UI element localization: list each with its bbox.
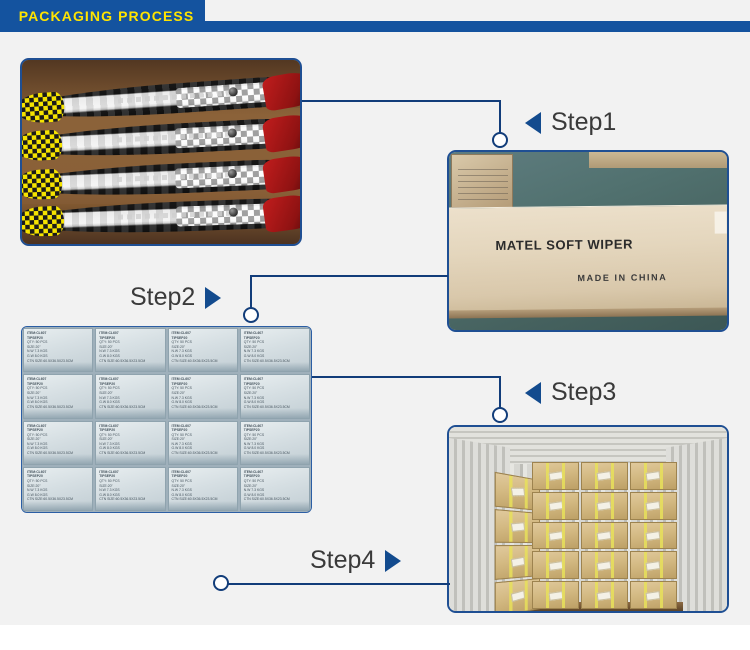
carton-with-label: ITEM:CL607TIPSEP20QTY: 50 PCSSIZE:20"N.W…: [95, 374, 165, 418]
background-carton: [451, 154, 513, 208]
carton-shadow: [24, 454, 92, 463]
carton-shipping-tag: [646, 471, 661, 480]
carton-label-text: ITEM:CL607TIPSEP20QTY: 50 PCSSIZE:20"N.W…: [172, 377, 235, 409]
carton-with-label: ITEM:CL607TIPSEP20QTY: 50 PCSSIZE:20"N.W…: [95, 328, 165, 372]
carton-shadow: [169, 408, 237, 417]
carton-shipping-tag: [548, 501, 563, 510]
step-label-step1[interactable]: Step1: [525, 108, 616, 137]
carton-shadow: [241, 501, 309, 510]
connector-step3-horizontal: [312, 376, 500, 378]
carton-shadow: [169, 501, 237, 510]
connector-step4-horizontal: [228, 583, 450, 585]
carton-with-label: ITEM:CL607TIPSEP20QTY: 50 PCSSIZE:20"N.W…: [95, 467, 165, 511]
header-accent-bar: [205, 21, 750, 32]
background-carton-secondary: [589, 152, 727, 168]
carton-shipping-tag: [548, 531, 563, 540]
shipping-carton: [532, 551, 579, 579]
header-title-block: PACKAGING PROCESS: [8, 0, 205, 32]
step-label-step3[interactable]: Step3: [525, 378, 616, 407]
carton-shadow: [96, 454, 164, 463]
carton-main-stack: [532, 462, 677, 609]
shipping-carton: [532, 462, 579, 490]
connector-step2-horizontal: [250, 275, 448, 277]
carton-shipping-tag: [512, 488, 526, 497]
shipping-carton: [581, 492, 628, 520]
carton-shipping-tag: [646, 531, 661, 540]
carton-shadow: [241, 454, 309, 463]
carton-label-text: ITEM:CL607TIPSEP20QTY: 50 PCSSIZE:20"N.W…: [244, 470, 307, 502]
carton-label-text: ITEM:CL607TIPSEP20QTY: 50 PCSSIZE:20"N.W…: [172, 470, 235, 502]
shipping-carton: [630, 522, 677, 550]
connector-step2-node: [243, 307, 259, 323]
step-label-step2[interactable]: Step2: [130, 283, 221, 312]
shipping-carton: [630, 492, 677, 520]
step3-text: Step3: [551, 378, 616, 407]
carton-shadow: [241, 362, 309, 371]
carton-label-text: ITEM:CL607TIPSEP20QTY: 50 PCSSIZE:20"N.W…: [244, 331, 307, 363]
carton-shipping-tag: [512, 557, 526, 568]
carton-with-label: ITEM:CL607TIPSEP20QTY: 50 PCSSIZE:20"N.W…: [168, 467, 238, 511]
photo-wiper-blades: [20, 58, 302, 246]
carton-label-text: ITEM:CL607TIPSEP20QTY: 50 PCSSIZE:20"N.W…: [99, 377, 162, 409]
connector-step2-vertical: [250, 275, 252, 308]
carton-shipping-tag: [597, 561, 612, 570]
carton-label-text: ITEM:CL607TIPSEP20QTY: 50 PCSSIZE:20"N.W…: [99, 424, 162, 456]
shipping-carton: [532, 492, 579, 520]
carton-shadow: [24, 501, 92, 510]
connector-step4-node: [213, 575, 229, 591]
triangle-left-icon: [525, 112, 541, 134]
shipping-carton: [581, 522, 628, 550]
carton-label-text: ITEM:CL607TIPSEP20QTY: 50 PCSSIZE:20"N.W…: [99, 470, 162, 502]
carton-with-label: ITEM:CL607TIPSEP20QTY: 50 PCSSIZE:20"N.W…: [168, 374, 238, 418]
master-carton: MATEL SOFT WIPER MADE IN CHINA: [449, 204, 727, 312]
photo-stacked-cartons-content: ITEM:CL607TIPSEP20QTY: 50 PCSSIZE:20"N.W…: [22, 327, 311, 512]
carton-with-label: ITEM:CL607TIPSEP20QTY: 50 PCSSIZE:20"N.W…: [240, 374, 310, 418]
carton-shipping-tag: [512, 591, 526, 603]
carton-stack-grid: ITEM:CL607TIPSEP20QTY: 50 PCSSIZE:20"N.W…: [22, 327, 311, 512]
photo-loaded-container-content: [449, 427, 727, 611]
carton-shipping-tag: [548, 591, 563, 600]
connector-step1-horizontal: [302, 100, 500, 102]
carton-with-label: ITEM:CL607TIPSEP20QTY: 50 PCSSIZE:20"N.W…: [23, 421, 93, 465]
carton-shadow: [241, 408, 309, 417]
carton-label-text: ITEM:CL607TIPSEP20QTY: 50 PCSSIZE:20"N.W…: [27, 424, 90, 456]
shipping-carton: [581, 551, 628, 579]
shipping-carton: [630, 551, 677, 579]
triangle-right-icon: [385, 550, 401, 572]
carton-with-label: ITEM:CL607TIPSEP20QTY: 50 PCSSIZE:20"N.W…: [240, 328, 310, 372]
carton-shipping-tag: [597, 501, 612, 510]
carton-shipping-tag: [646, 501, 661, 510]
carton-label-text: ITEM:CL607TIPSEP20QTY: 50 PCSSIZE:20"N.W…: [27, 377, 90, 409]
carton-shadow: [96, 501, 164, 510]
carton-with-label: ITEM:CL607TIPSEP20QTY: 50 PCSSIZE:20"N.W…: [23, 467, 93, 511]
carton-with-label: ITEM:CL607TIPSEP20QTY: 50 PCSSIZE:20"N.W…: [23, 374, 93, 418]
header-left-cap: [0, 0, 8, 32]
carton-with-label: ITEM:CL607TIPSEP20QTY: 50 PCSSIZE:20"N.W…: [23, 328, 93, 372]
carton-with-label: ITEM:CL607TIPSEP20QTY: 50 PCSSIZE:20"N.W…: [95, 421, 165, 465]
carton-with-label: ITEM:CL607TIPSEP20QTY: 50 PCSSIZE:20"N.W…: [240, 467, 310, 511]
carton-origin-text: MADE IN CHINA: [577, 272, 667, 283]
carton-label-text: ITEM:CL607TIPSEP20QTY: 50 PCSSIZE:20"N.W…: [244, 424, 307, 456]
carton-label-text: ITEM:CL607TIPSEP20QTY: 50 PCSSIZE:20"N.W…: [172, 424, 235, 456]
carton-label-text: ITEM:CL607TIPSEP20QTY: 50 PCSSIZE:20"N.W…: [172, 331, 235, 363]
triangle-left-icon: [525, 382, 541, 404]
carton-tape: [715, 212, 727, 234]
carton-shipping-tag: [597, 471, 612, 480]
photo-printed-carton-content: MATEL SOFT WIPER MADE IN CHINA: [449, 152, 727, 330]
photo-wiper-blades-content: [22, 60, 300, 244]
carton-label-text: ITEM:CL607TIPSEP20QTY: 50 PCSSIZE:20"N.W…: [27, 331, 90, 363]
carton-shadow: [24, 408, 92, 417]
step1-text: Step1: [551, 108, 616, 137]
step4-text: Step4: [310, 546, 375, 575]
connector-step3-node: [492, 407, 508, 423]
connector-step3-vertical: [499, 376, 501, 408]
carton-label-text: ITEM:CL607TIPSEP20QTY: 50 PCSSIZE:20"N.W…: [244, 377, 307, 409]
carton-label-text: ITEM:CL607TIPSEP20QTY: 50 PCSSIZE:20"N.W…: [99, 331, 162, 363]
carton-shipping-tag: [646, 591, 661, 600]
shipping-carton: [532, 581, 579, 609]
photo-stacked-cartons: ITEM:CL607TIPSEP20QTY: 50 PCSSIZE:20"N.W…: [21, 326, 312, 513]
photo-loaded-container: [447, 425, 729, 613]
page-title: PACKAGING PROCESS: [19, 8, 195, 24]
connector-step1-node: [492, 132, 508, 148]
carton-with-label: ITEM:CL607TIPSEP20QTY: 50 PCSSIZE:20"N.W…: [168, 421, 238, 465]
carton-with-label: ITEM:CL607TIPSEP20QTY: 50 PCSSIZE:20"N.W…: [240, 421, 310, 465]
step-label-step4[interactable]: Step4: [310, 546, 401, 575]
carton-brand-text: MATEL SOFT WIPER: [495, 237, 633, 253]
page-header: PACKAGING PROCESS: [0, 0, 750, 32]
shipping-carton: [630, 462, 677, 490]
carton-shipping-tag: [597, 591, 612, 600]
photo-printed-carton: MATEL SOFT WIPER MADE IN CHINA: [447, 150, 729, 332]
carton-shadow: [169, 454, 237, 463]
shipping-carton: [630, 581, 677, 609]
carton-shipping-tag: [597, 531, 612, 540]
background-carton-print: [458, 169, 508, 201]
carton-shadow: [96, 362, 164, 371]
connector-step1-vertical: [499, 100, 501, 133]
carton-shadow: [169, 362, 237, 371]
carton-shipping-tag: [548, 471, 563, 480]
carton-shipping-tag: [646, 561, 661, 570]
shipping-carton: [581, 581, 628, 609]
carton-shadow: [24, 362, 92, 371]
shipping-carton: [581, 462, 628, 490]
step2-text: Step2: [130, 283, 195, 312]
carton-shipping-tag: [512, 523, 526, 533]
triangle-right-icon: [205, 287, 221, 309]
carton-shadow: [96, 408, 164, 417]
carton-with-label: ITEM:CL607TIPSEP20QTY: 50 PCSSIZE:20"N.W…: [168, 328, 238, 372]
carton-shipping-tag: [548, 561, 563, 570]
carton-label-text: ITEM:CL607TIPSEP20QTY: 50 PCSSIZE:20"N.W…: [27, 470, 90, 502]
shipping-carton: [532, 522, 579, 550]
packaging-process-page: PACKAGING PROCESS: [0, 0, 750, 650]
